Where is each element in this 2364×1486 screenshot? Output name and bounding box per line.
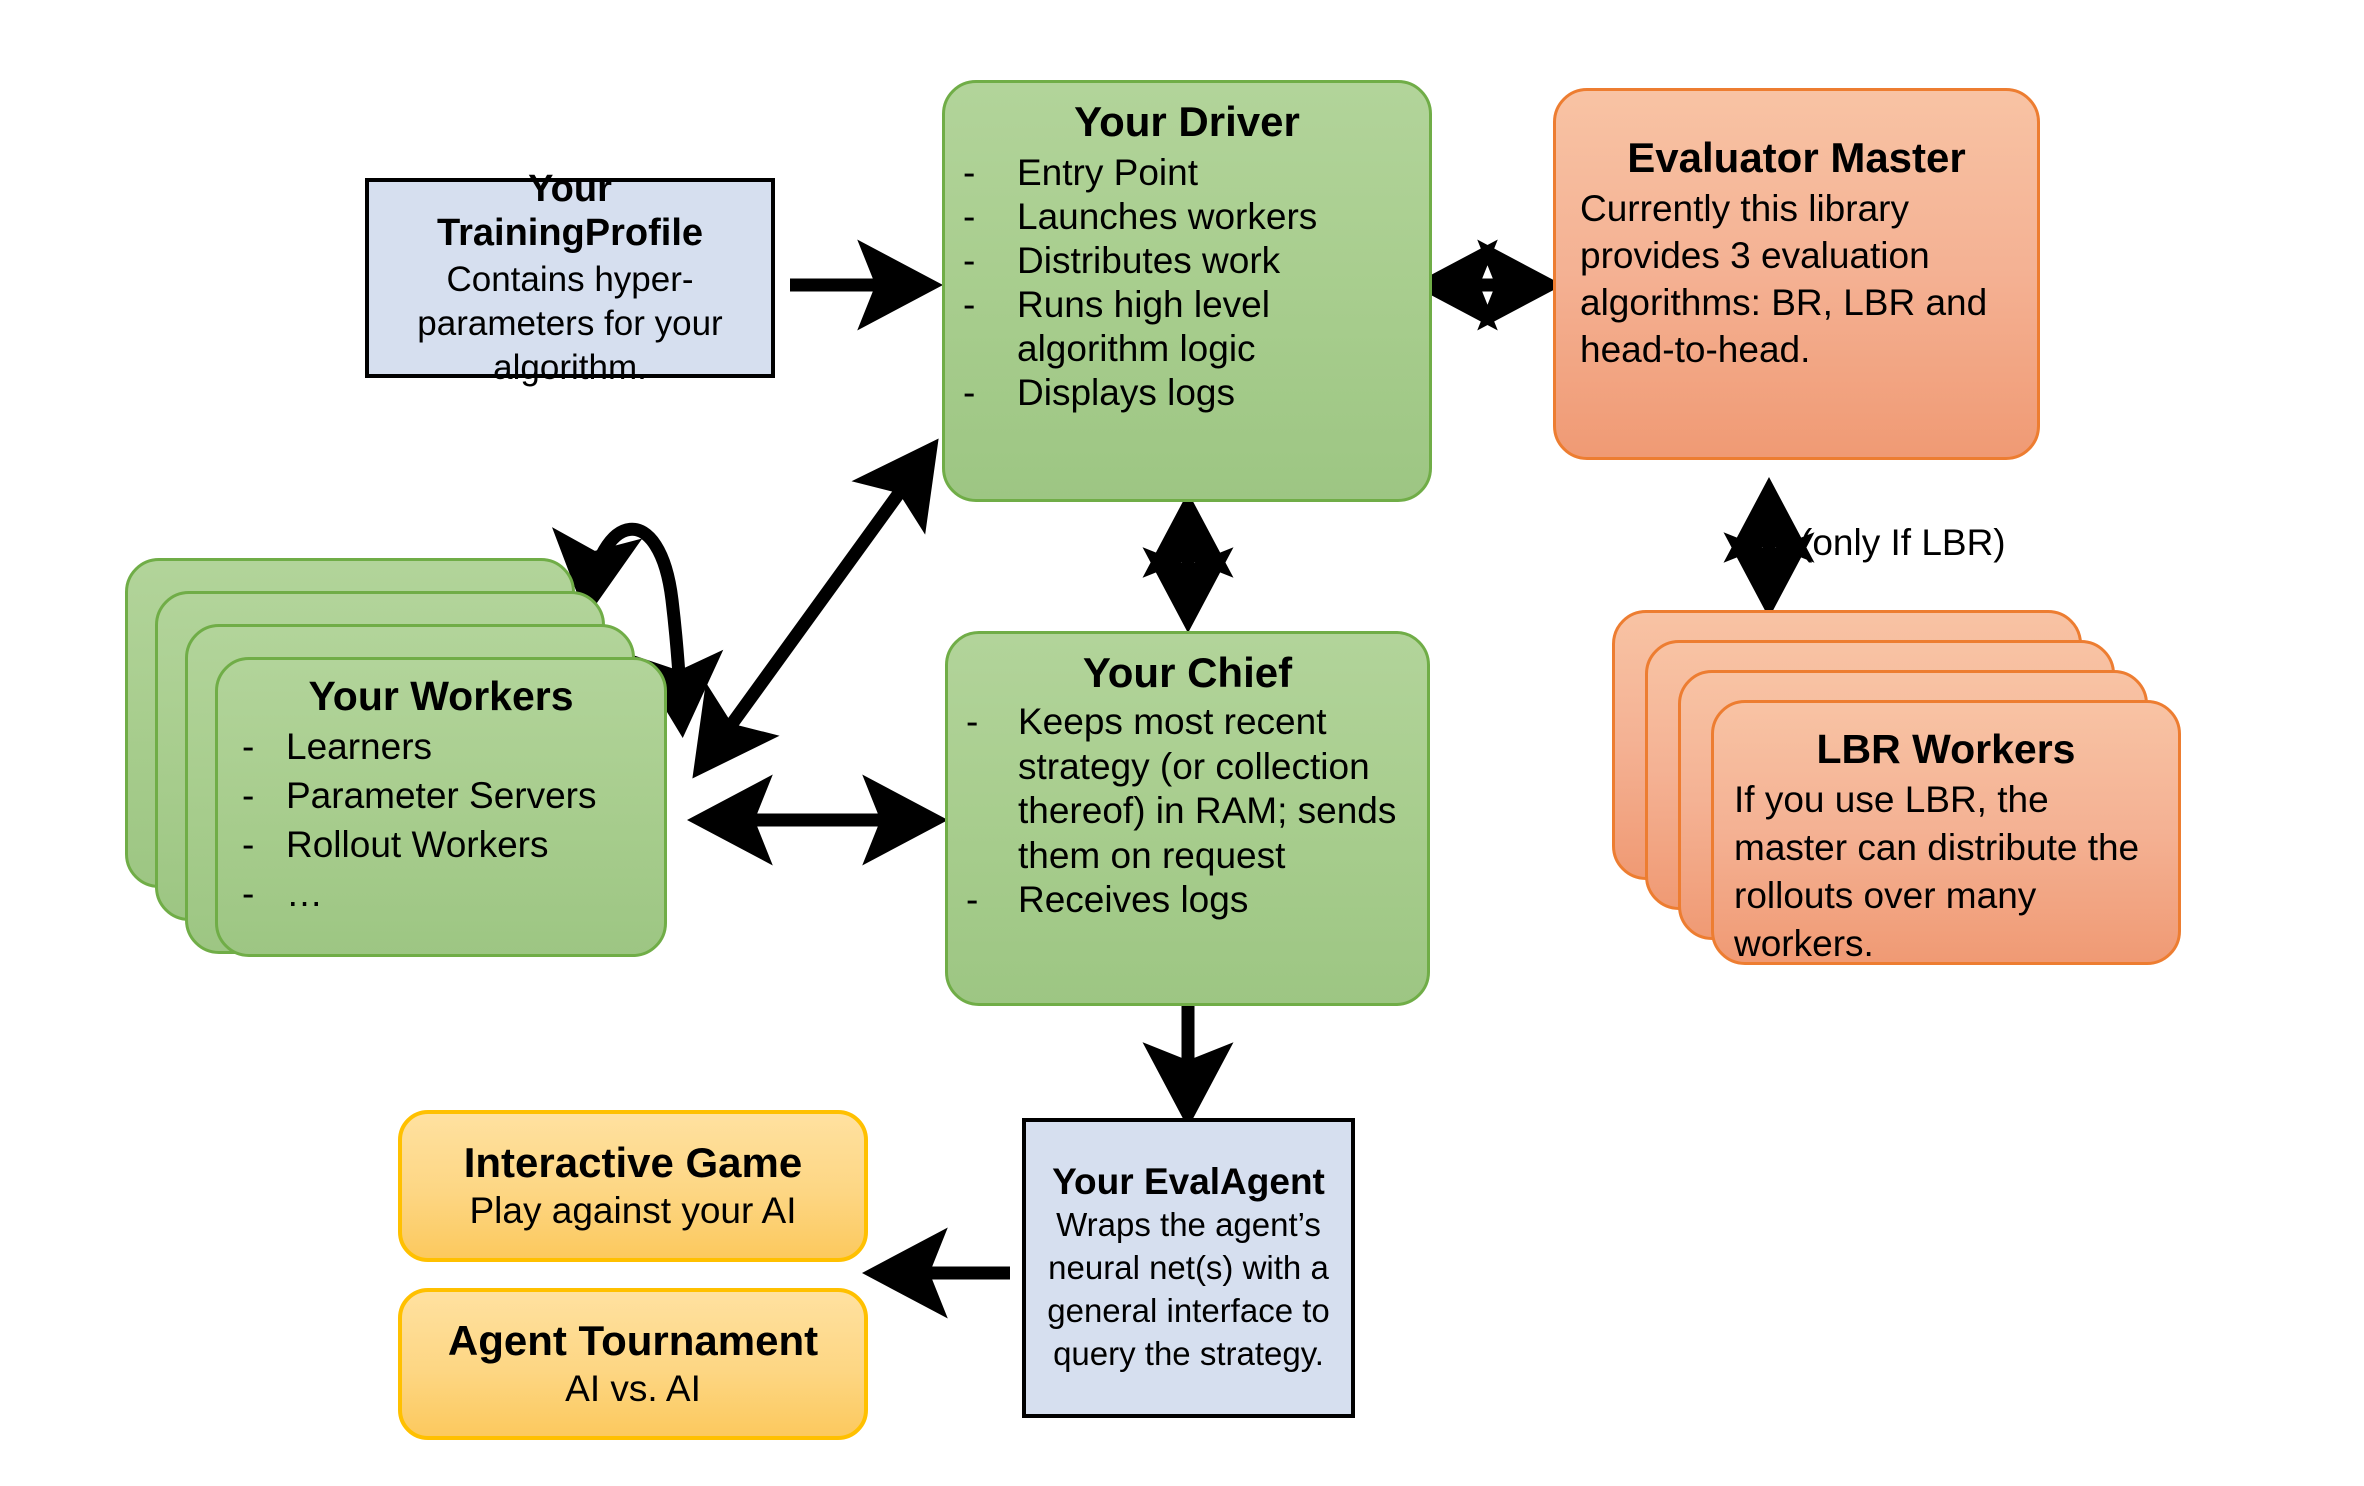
list-item-label: Keeps most recent strategy (or collectio… bbox=[1018, 700, 1409, 878]
list-item-label: Runs high level algorithm logic bbox=[1017, 283, 1411, 371]
node-interactive-game[interactable]: Interactive Game Play against your AI bbox=[398, 1110, 868, 1262]
list-item-label: Rollout Workers bbox=[286, 821, 648, 870]
list-item: - Parameter Servers bbox=[234, 772, 648, 821]
list-item-label: Entry Point bbox=[1017, 151, 1411, 195]
agent-tournament-title: Agent Tournament bbox=[420, 1316, 846, 1366]
bullet-dash: - bbox=[963, 371, 1017, 415]
bullet-dash: - bbox=[966, 700, 1018, 744]
node-training-profile[interactable]: Your TrainingProfile Contains hyper-para… bbox=[365, 178, 775, 378]
list-item-label: … bbox=[286, 870, 648, 919]
bullet-dash: - bbox=[963, 151, 1017, 195]
bullet-dash: - bbox=[234, 723, 286, 772]
evaluator-master-title: Evaluator Master bbox=[1580, 133, 2013, 183]
workers-stack-layer-1[interactable]: Your Workers - Learners - Parameter Serv… bbox=[215, 657, 667, 957]
arrow-workers-to-driver bbox=[700, 449, 931, 768]
list-item-label: Launches workers bbox=[1017, 195, 1411, 239]
lbr-workers-body: If you use LBR, the master can distribut… bbox=[1734, 776, 2158, 968]
node-chief[interactable]: Your Chief - Keeps most recent strategy … bbox=[945, 631, 1430, 1006]
node-driver[interactable]: Your Driver - Entry Point - Launches wor… bbox=[942, 80, 1432, 502]
list-item: - … bbox=[234, 870, 648, 919]
driver-title: Your Driver bbox=[963, 97, 1411, 147]
training-profile-body: Contains hyper-parameters for your algor… bbox=[391, 258, 749, 389]
node-agent-tournament[interactable]: Agent Tournament AI vs. AI bbox=[398, 1288, 868, 1440]
list-item: - Rollout Workers bbox=[234, 821, 648, 870]
chief-bullet-list: - Keeps most recent strategy (or collect… bbox=[966, 700, 1409, 922]
node-evaluator-master[interactable]: Evaluator Master Currently this library … bbox=[1553, 88, 2040, 460]
workers-title: Your Workers bbox=[234, 672, 648, 721]
list-item: - Displays logs bbox=[963, 371, 1411, 415]
interactive-game-body: Play against your AI bbox=[469, 1188, 796, 1234]
lbr-workers-title: LBR Workers bbox=[1734, 725, 2158, 774]
bullet-dash: - bbox=[963, 195, 1017, 239]
list-item: - Receives logs bbox=[966, 878, 1409, 922]
list-item: - Entry Point bbox=[963, 151, 1411, 195]
training-profile-title: Your TrainingProfile bbox=[391, 167, 749, 257]
list-item: - Keeps most recent strategy (or collect… bbox=[966, 700, 1409, 878]
list-item: - Runs high level algorithm logic bbox=[963, 283, 1411, 371]
chief-title: Your Chief bbox=[966, 648, 1409, 698]
list-item: - Distributes work bbox=[963, 239, 1411, 283]
bullet-dash: - bbox=[234, 821, 286, 870]
bullet-dash: - bbox=[963, 283, 1017, 327]
workers-bullet-list: - Learners - Parameter Servers - Rollout… bbox=[234, 723, 648, 918]
list-item: - Launches workers bbox=[963, 195, 1411, 239]
bullet-dash: - bbox=[234, 772, 286, 821]
list-item: - Learners bbox=[234, 723, 648, 772]
list-item-label: Learners bbox=[286, 723, 648, 772]
agent-tournament-body: AI vs. AI bbox=[565, 1366, 701, 1412]
eval-agent-title: Your EvalAgent bbox=[1052, 1160, 1325, 1204]
evaluator-master-body: Currently this library provides 3 evalua… bbox=[1580, 186, 2013, 374]
bullet-dash: - bbox=[234, 870, 286, 919]
list-item-label: Distributes work bbox=[1017, 239, 1411, 283]
list-item-label: Receives logs bbox=[1018, 878, 1409, 922]
node-lbr-workers-stack[interactable]: LBR Workers If you use LBR, the master c… bbox=[1612, 610, 2232, 970]
list-item-label: Parameter Servers bbox=[286, 772, 648, 821]
list-item-label: Displays logs bbox=[1017, 371, 1411, 415]
edge-label-only-if-lbr: (only If LBR) bbox=[1800, 522, 2006, 564]
node-your-workers-stack[interactable]: Your Workers - Learners - Parameter Serv… bbox=[125, 558, 695, 958]
driver-bullet-list: - Entry Point - Launches workers - Distr… bbox=[963, 151, 1411, 415]
bullet-dash: - bbox=[966, 878, 1018, 922]
lbr-stack-layer-1[interactable]: LBR Workers If you use LBR, the master c… bbox=[1711, 700, 2181, 965]
node-eval-agent[interactable]: Your EvalAgent Wraps the agent’s neural … bbox=[1022, 1118, 1355, 1418]
diagram-canvas: Your TrainingProfile Contains hyper-para… bbox=[0, 0, 2364, 1486]
eval-agent-body: Wraps the agent’s neural net(s) with a g… bbox=[1040, 1204, 1337, 1376]
bullet-dash: - bbox=[963, 239, 1017, 283]
interactive-game-title: Interactive Game bbox=[420, 1138, 846, 1188]
